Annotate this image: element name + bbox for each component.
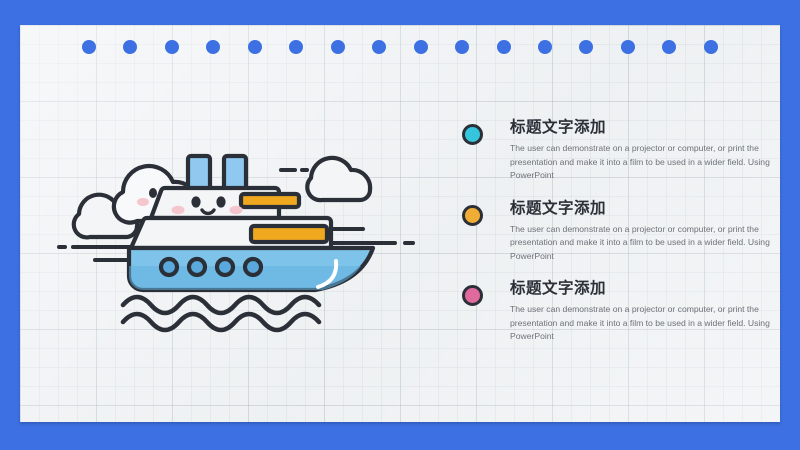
punch-dots-row <box>20 36 780 58</box>
content-item-description: The user can demonstrate on a projector … <box>510 223 772 264</box>
ship-blush-right <box>230 206 243 214</box>
funnel-right <box>224 156 246 189</box>
punch-dot <box>455 40 469 54</box>
punch-dot <box>372 40 386 54</box>
upper-stripe <box>241 194 299 207</box>
punch-dot <box>621 40 635 54</box>
bullet-cyan-icon <box>462 124 483 145</box>
ship-eye-left <box>191 196 200 207</box>
content-item[interactable]: 标题文字添加The user can demonstrate on a proj… <box>458 199 758 264</box>
punch-dot <box>165 40 179 54</box>
content-item-title: 标题文字添加 <box>510 118 758 138</box>
ship-illustration-svg <box>45 130 445 370</box>
content-item-title: 标题文字添加 <box>510 199 758 219</box>
content-item[interactable]: 标题文字添加The user can demonstrate on a proj… <box>458 279 758 344</box>
bullet-pink-icon <box>462 285 483 306</box>
punch-dot <box>579 40 593 54</box>
content-item-description: The user can demonstrate on a projector … <box>510 303 772 344</box>
punch-dot <box>414 40 428 54</box>
cloud-top-right <box>307 158 370 200</box>
slide-canvas: 标题文字添加The user can demonstrate on a proj… <box>0 0 800 450</box>
punch-dot <box>331 40 345 54</box>
punch-dot <box>538 40 552 54</box>
porthole-3 <box>217 259 233 275</box>
punch-dot <box>206 40 220 54</box>
punch-dot <box>497 40 511 54</box>
punch-dot <box>82 40 96 54</box>
punch-dot <box>248 40 262 54</box>
porthole-4 <box>245 259 261 275</box>
wave-line-1 <box>123 297 319 313</box>
content-item-description: The user can demonstrate on a projector … <box>510 142 772 183</box>
punch-dot <box>662 40 676 54</box>
content-list: 标题文字添加The user can demonstrate on a proj… <box>458 118 758 360</box>
content-item-title: 标题文字添加 <box>510 279 758 299</box>
content-item[interactable]: 标题文字添加The user can demonstrate on a proj… <box>458 118 758 183</box>
cloud-eye-left <box>149 188 157 198</box>
cloud-blush-left <box>137 198 149 206</box>
punch-dot <box>123 40 137 54</box>
bullet-orange-icon <box>462 205 483 226</box>
funnel-left <box>188 156 210 189</box>
ship-eye-right <box>216 196 225 207</box>
punch-dot <box>704 40 718 54</box>
porthole-1 <box>161 259 177 275</box>
wave-line-2 <box>123 314 319 330</box>
ship-illustration <box>45 130 445 370</box>
ship-blush-left <box>172 206 185 214</box>
porthole-2 <box>189 259 205 275</box>
punch-dot <box>289 40 303 54</box>
lower-stripe <box>251 226 327 242</box>
